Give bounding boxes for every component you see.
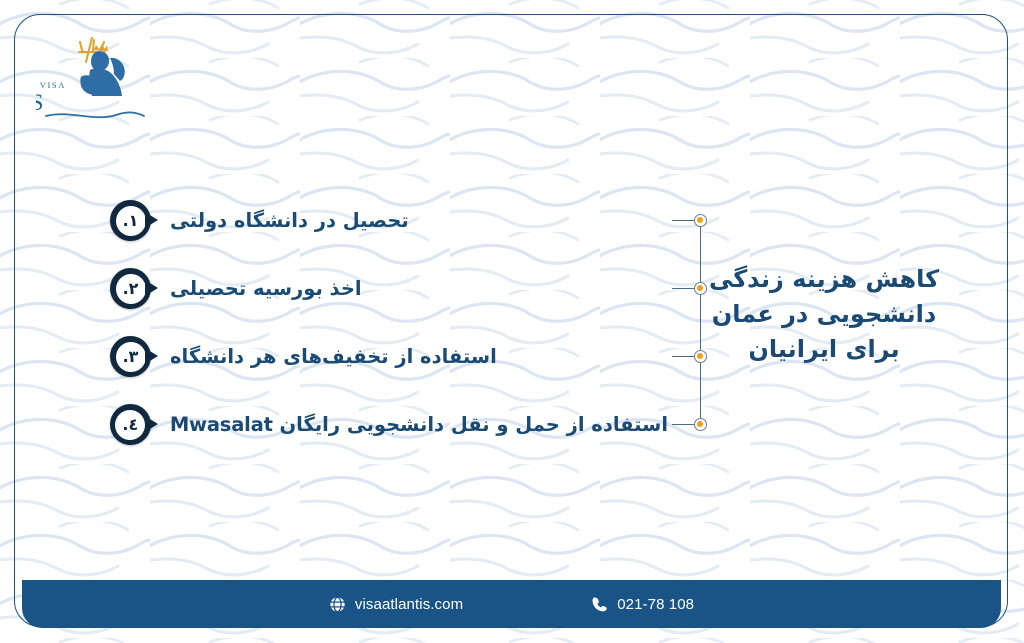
list-item-label: تحصیل در دانشگاه دولتی <box>156 209 668 232</box>
list-item[interactable]: استفاده از تخفیف‌های هر دانشگاه ۳. <box>110 335 668 379</box>
badge-number: ۱. <box>110 200 151 241</box>
footer-website-text: visaatlantis.com <box>355 596 463 613</box>
list-item-label: استفاده از تخفیف‌های هر دانشگاه <box>156 345 668 368</box>
list-item[interactable]: اخذ بورسیه تحصیلی ۲. <box>110 267 668 311</box>
page-title-line-3: برای ایرانیان <box>694 332 954 367</box>
page-title-line-1: کاهش هزینه زندگی <box>694 262 954 297</box>
list-item-badge: ۲. <box>110 267 156 311</box>
footer-phone[interactable]: 021-78 108 <box>591 596 694 613</box>
footer-phone-text: 021-78 108 <box>617 596 694 613</box>
badge-number: ٤. <box>110 404 151 445</box>
globe-icon <box>329 596 346 613</box>
list-item-badge: ۱. <box>110 199 156 243</box>
list-item[interactable]: استفاده از حمل و نقل دانشجویی رایگان Mwa… <box>110 403 668 447</box>
footer-website[interactable]: visaatlantis.com <box>329 596 463 613</box>
list-item-badge: ۳. <box>110 335 156 379</box>
list-item-label: اخذ بورسیه تحصیلی <box>156 277 668 300</box>
list-item[interactable]: تحصیل در دانشگاه دولتی ۱. <box>110 199 668 243</box>
phone-icon <box>591 596 608 613</box>
infographic-page: VISA ATLANTIS تحصیل در دانشگاه دولتی ۱. … <box>0 0 1024 643</box>
page-title-line-2: دانشجویی در عمان <box>694 297 954 332</box>
list-item-label: استفاده از حمل و نقل دانشجویی رایگان Mwa… <box>156 413 668 436</box>
page-title: کاهش هزینه زندگی دانشجویی در عمان برای ا… <box>694 262 954 366</box>
list-item-badge: ٤. <box>110 403 156 447</box>
footer-bar: visaatlantis.com 021-78 108 <box>22 580 1001 628</box>
badge-number: ۲. <box>110 268 151 309</box>
badge-number: ۳. <box>110 336 151 377</box>
